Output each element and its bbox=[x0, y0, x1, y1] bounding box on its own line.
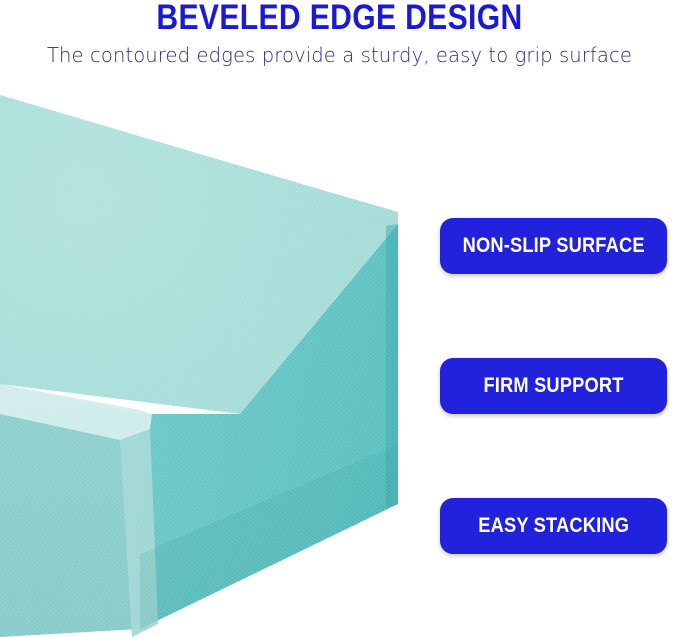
badge-firm-support[interactable]: FIRM SUPPORT bbox=[440, 358, 667, 414]
product-feature-banner: BEVELED EDGE DESIGN The contoured edges … bbox=[0, 0, 679, 637]
feature-badge-list: NON-SLIP SURFACE FIRM SUPPORT EASY STACK… bbox=[440, 0, 679, 637]
product-photo bbox=[0, 84, 420, 637]
badge-easy-stacking[interactable]: EASY STACKING bbox=[440, 498, 667, 554]
badge-label: NON-SLIP SURFACE bbox=[462, 234, 644, 258]
badge-label: EASY STACKING bbox=[478, 514, 629, 538]
badge-non-slip-surface[interactable]: NON-SLIP SURFACE bbox=[440, 218, 667, 274]
foam-block-illustration bbox=[0, 84, 420, 637]
badge-label: FIRM SUPPORT bbox=[483, 374, 623, 398]
